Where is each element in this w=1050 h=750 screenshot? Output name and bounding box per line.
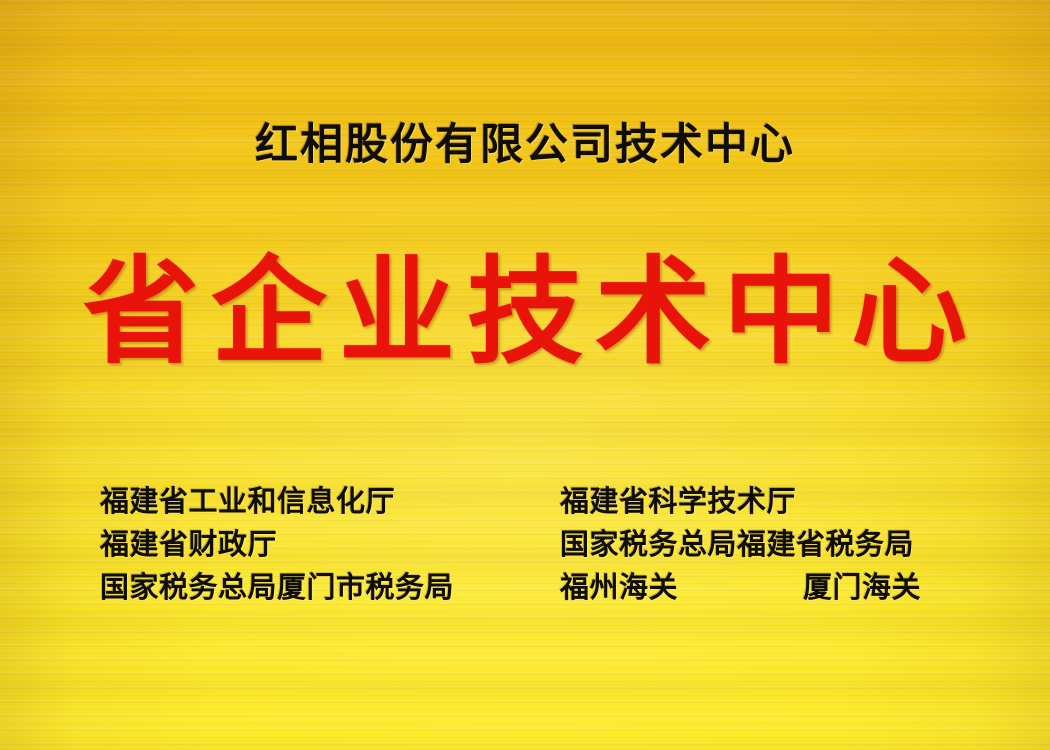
authority-name: 国家税务总局厦门市税务局 [100, 570, 454, 604]
authority-name: 福建省工业和信息化厅 [100, 484, 395, 518]
authority-name: 福州海关 [560, 564, 678, 606]
authority-column-left: 福建省财政厅 [100, 521, 560, 563]
company-title: 红相股份有限公司技术中心 [0, 110, 1050, 172]
authority-column-right: 福建省科学技术厅 [560, 478, 980, 520]
authority-row: 福建省工业和信息化厅 福建省科学技术厅 [100, 478, 980, 521]
authority-column-right: 福州海关 厦门海关 [560, 564, 980, 606]
authority-row: 福建省财政厅 国家税务总局福建省税务局 [100, 521, 980, 564]
authority-name: 国家税务总局福建省税务局 [560, 521, 914, 563]
authority-name: 福建省科学技术厅 [560, 478, 796, 520]
issuing-authorities-block: 福建省工业和信息化厅 福建省科学技术厅 福建省财政厅 国家税务总局福建省税务局 … [100, 478, 980, 607]
authority-name: 厦门海关 [803, 564, 921, 606]
main-heading: 省企业技术中心 [0, 248, 1050, 378]
award-plaque: 红相股份有限公司技术中心 省企业技术中心 福建省工业和信息化厅 福建省科学技术厅… [0, 0, 1050, 750]
authority-column-left: 福建省工业和信息化厅 [100, 478, 560, 520]
authority-column-right: 国家税务总局福建省税务局 [560, 521, 980, 563]
authority-name: 福建省财政厅 [100, 527, 277, 561]
authority-column-left: 国家税务总局厦门市税务局 [100, 564, 560, 606]
authority-row: 国家税务总局厦门市税务局 福州海关 厦门海关 [100, 564, 980, 607]
